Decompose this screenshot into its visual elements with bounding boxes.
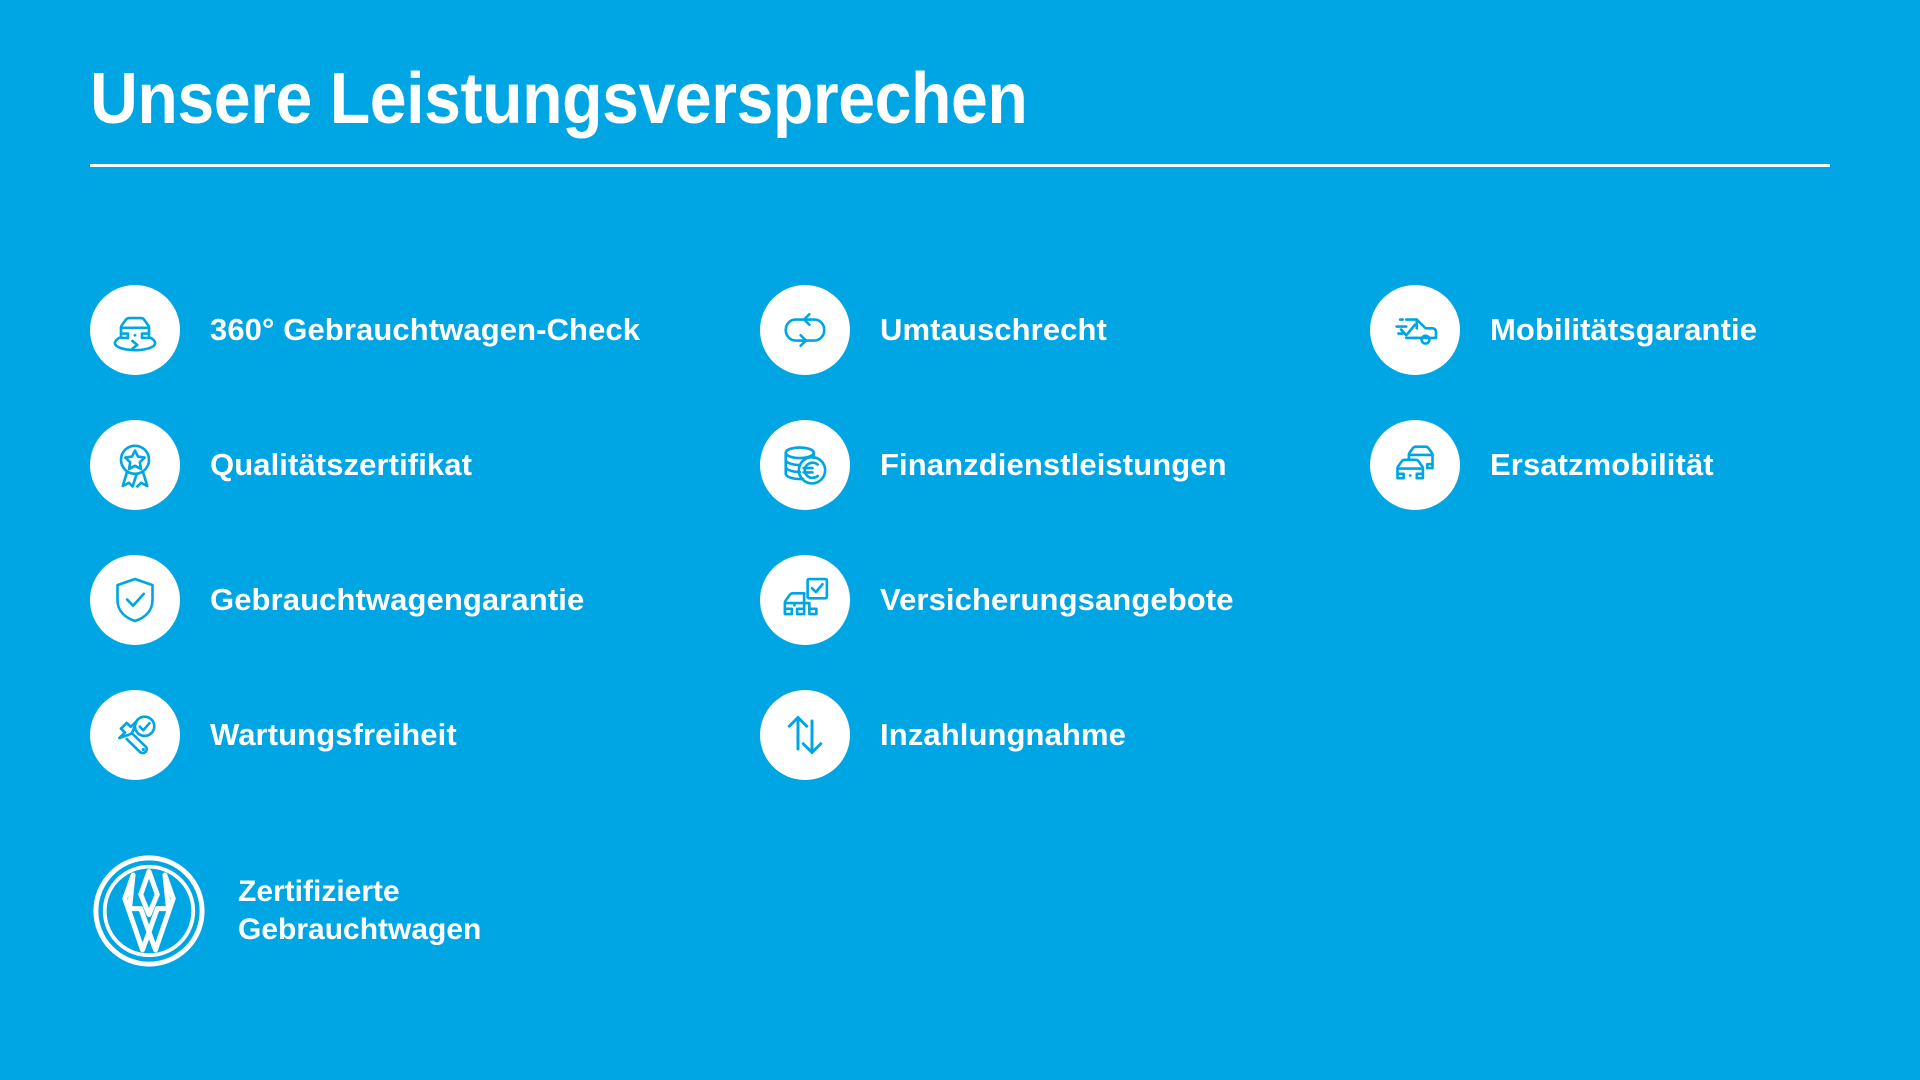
promise-label: Mobilitätsgarantie <box>1490 311 1757 348</box>
promise-column-1: 360° Gebrauchtwagen-Check Qualitätszerti… <box>90 262 760 802</box>
promise-item-inzahlungnahme[interactable]: Inzahlungnahme <box>760 667 1370 802</box>
title-divider <box>90 164 1830 167</box>
promise-label: Gebrauchtwagengarantie <box>210 581 584 618</box>
brand-text-line-2: Gebrauchtwagen <box>238 911 481 949</box>
car-checkbox-icon <box>760 555 850 645</box>
promise-item-umtauschrecht[interactable]: Umtauschrecht <box>760 262 1370 397</box>
van-speed-check-icon <box>1370 285 1460 375</box>
promise-label: Wartungsfreiheit <box>210 716 457 753</box>
promise-item-mobilitaetsgarantie[interactable]: Mobilitätsgarantie <box>1370 262 1830 397</box>
promise-item-qualitaetszertifikat[interactable]: Qualitätszertifikat <box>90 397 760 532</box>
promise-item-wartungsfreiheit[interactable]: Wartungsfreiheit <box>90 667 760 802</box>
promise-item-gebrauchtwagengarantie[interactable]: Gebrauchtwagengarantie <box>90 532 760 667</box>
promise-item-versicherungsangebote[interactable]: Versicherungsangebote <box>760 532 1370 667</box>
page-title: Unsere Leistungsversprechen <box>90 62 1691 138</box>
promise-label: Inzahlungnahme <box>880 716 1126 753</box>
up-down-arrows-icon <box>760 690 850 780</box>
promise-column-2: Umtauschrecht Finanz <box>760 262 1370 802</box>
header: Unsere Leistungsversprechen <box>90 62 1830 167</box>
promise-label: Qualitätszertifikat <box>210 446 472 483</box>
brand-block: Zertifizierte Gebrauchtwagen <box>90 852 481 970</box>
shield-check-icon <box>90 555 180 645</box>
euro-coins-icon <box>760 420 850 510</box>
promise-item-ersatzmobilitaet[interactable]: Ersatzmobilität <box>1370 397 1830 532</box>
promise-label: 360° Gebrauchtwagen-Check <box>210 311 640 348</box>
promise-label: Finanzdienstleistungen <box>880 446 1227 483</box>
promise-item-finanzdienstleistungen[interactable]: Finanzdienstleistungen <box>760 397 1370 532</box>
promise-label: Versicherungsangebote <box>880 581 1234 618</box>
award-rosette-icon <box>90 420 180 510</box>
car-360-check-icon <box>90 285 180 375</box>
exchange-arrows-icon <box>760 285 850 375</box>
brand-text-line-1: Zertifizierte <box>238 873 481 911</box>
volkswagen-logo <box>90 852 208 970</box>
promise-label: Umtauschrecht <box>880 311 1107 348</box>
promise-column-3: Mobilitätsgarantie Ersatzmobilitä <box>1370 262 1830 532</box>
wrench-check-icon <box>90 690 180 780</box>
two-cars-icon <box>1370 420 1460 510</box>
promise-slide: Unsere Leistungsversprechen <box>0 0 1920 1080</box>
promise-item-360-check[interactable]: 360° Gebrauchtwagen-Check <box>90 262 760 397</box>
promises-grid: 360° Gebrauchtwagen-Check Qualitätszerti… <box>90 262 1850 802</box>
brand-text: Zertifizierte Gebrauchtwagen <box>238 873 481 950</box>
promise-label: Ersatzmobilität <box>1490 446 1714 483</box>
